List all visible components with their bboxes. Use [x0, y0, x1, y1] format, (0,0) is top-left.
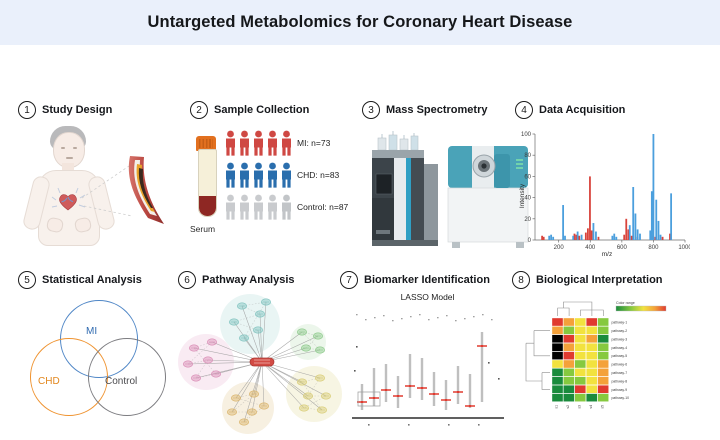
step-title-7: Biomarker Identification — [364, 274, 490, 286]
svg-text:80: 80 — [524, 153, 531, 159]
step-number-4: 4 — [515, 101, 533, 119]
step-number-6: 6 — [178, 271, 196, 289]
panel-data-acquisition: 4 Data Acquisition 020406080100200400600… — [515, 100, 690, 270]
person-icon — [266, 130, 279, 156]
svg-text:pathway-1: pathway-1 — [612, 321, 628, 325]
cohort-row-control: Control: n=87 — [224, 194, 348, 220]
workflow-grid: 1 Study Design — [0, 45, 720, 405]
panel-header: 2 Sample Collection — [190, 100, 365, 120]
venn-label-mi: MI — [86, 326, 97, 337]
svg-text:s3: s3 — [578, 405, 582, 409]
step-title-2: Sample Collection — [214, 104, 309, 116]
spectrum-axes: 0204060801002004006008001000 — [521, 132, 690, 251]
step-number-8: 8 — [512, 271, 530, 289]
step-title-3: Mass Spectrometry — [386, 104, 488, 116]
svg-text:pathway-9: pathway-9 — [612, 388, 628, 392]
step-number-5: 5 — [18, 271, 36, 289]
svg-text:20: 20 — [524, 217, 531, 223]
svg-text:0: 0 — [528, 238, 532, 244]
person-icon — [280, 162, 293, 188]
svg-text:s1: s1 — [555, 405, 559, 409]
svg-text:1000: 1000 — [678, 245, 690, 251]
panel-sample-collection: 2 Sample Collection Serum MI: n=73 — [190, 100, 365, 270]
eye-right-icon — [73, 147, 77, 149]
lasso-forest-plot — [348, 306, 508, 434]
legend-gradient-bar — [616, 306, 666, 311]
panel-header: 4 Data Acquisition — [515, 100, 690, 120]
lasso-panel: LASSO Model — [340, 290, 515, 438]
serum-label: Serum — [190, 224, 215, 234]
artery-plaque-icon — [114, 154, 176, 226]
venn-label-chd: CHD — [38, 376, 60, 387]
panel-header: 7 Biomarker Identification — [340, 270, 515, 290]
step-title-1: Study Design — [42, 104, 112, 116]
panel-header: 5 Statistical Analysis — [18, 270, 193, 290]
tube-body-shape — [198, 149, 217, 217]
sample-collection-illustration: Serum MI: n=73 CHD: n=83 — [190, 120, 365, 268]
panel-statistical-analysis: 5 Statistical Analysis MI CHD Control — [18, 270, 193, 440]
spectrum-bars — [541, 134, 672, 240]
clustered-heatmap: pathway-1pathway-2pathway-3pathway-4path… — [512, 290, 687, 438]
x-axis-label: m/z — [602, 251, 612, 258]
svg-text:100: 100 — [521, 132, 532, 138]
person-icon — [238, 162, 251, 188]
person-icon — [266, 194, 279, 220]
liquid-chromatograph-icon — [364, 130, 442, 250]
step-number-2: 2 — [190, 101, 208, 119]
svg-text:pathway-5: pathway-5 — [612, 354, 628, 358]
svg-text:pathway-4: pathway-4 — [612, 346, 628, 350]
panel-header: 3 Mass Spectrometry — [362, 100, 537, 120]
person-icon — [238, 130, 251, 156]
lasso-plot-title: LASSO Model — [340, 292, 515, 302]
svg-text:60: 60 — [524, 174, 531, 180]
person-icon — [280, 130, 293, 156]
lasso-marks — [354, 314, 500, 426]
step-title-4: Data Acquisition — [539, 104, 625, 116]
panel-pathway-analysis: 6 Pathway Analysis — [178, 270, 353, 440]
svg-text:pathway-2: pathway-2 — [612, 329, 628, 333]
person-icon — [280, 194, 293, 220]
person-icon — [252, 130, 265, 156]
serum-tube-icon — [196, 136, 216, 220]
cohort-label-chd: CHD: n=83 — [297, 170, 339, 180]
person-icon — [224, 162, 237, 188]
spectrum-plot: 0204060801002004006008001000 Intensity m… — [515, 122, 690, 268]
panel-header: 1 Study Design — [18, 100, 193, 120]
title-banner: Untargeted Metabolomics for Coronary Hea… — [0, 0, 720, 45]
person-icon — [252, 162, 265, 188]
svg-text:800: 800 — [648, 245, 659, 251]
step-number-1: 1 — [18, 101, 36, 119]
svg-text:400: 400 — [585, 245, 596, 251]
y-axis-label: Intensity — [519, 183, 526, 208]
legend-title: Color range — [616, 301, 635, 305]
pathway-network — [178, 290, 353, 438]
svg-text:s5: s5 — [600, 405, 604, 409]
panel-header: 8 Biological Interpretation — [512, 270, 687, 290]
page-title: Untargeted Metabolomics for Coronary Hea… — [148, 13, 573, 32]
step-title-8: Biological Interpretation — [536, 274, 663, 286]
svg-text:pathway-10: pathway-10 — [612, 396, 630, 400]
heatmap-legend: Color range — [616, 301, 666, 311]
mouth-icon — [66, 157, 73, 159]
heatmap-cells — [552, 318, 609, 402]
svg-text:pathway-7: pathway-7 — [612, 371, 628, 375]
blood-clot-shape — [199, 196, 216, 216]
venn-diagram: MI CHD Control — [18, 290, 193, 438]
cohort-label-mi: MI: n=73 — [297, 138, 330, 148]
network-graph — [178, 290, 353, 438]
svg-text:pathway-6: pathway-6 — [612, 363, 628, 367]
hub-node — [250, 358, 274, 366]
person-icon — [252, 194, 265, 220]
panel-mass-spectrometry: 3 Mass Spectrometry — [362, 100, 537, 270]
svg-text:s4: s4 — [589, 405, 593, 409]
person-icon — [266, 162, 279, 188]
venn-label-control: Control — [105, 376, 137, 387]
eye-left-icon — [61, 147, 65, 149]
svg-text:200: 200 — [554, 245, 565, 251]
svg-text:s2: s2 — [566, 405, 570, 409]
step-number-3: 3 — [362, 101, 380, 119]
study-design-illustration — [18, 120, 193, 268]
svg-text:pathway-3: pathway-3 — [612, 337, 628, 341]
step-title-5: Statistical Analysis — [42, 274, 142, 286]
heart-icon — [58, 192, 78, 211]
person-icon — [224, 194, 237, 220]
svg-text:pathway-8: pathway-8 — [612, 379, 628, 383]
mass-spectrum-chart: 0204060801002004006008001000 Intensity m… — [515, 120, 690, 268]
svg-text:600: 600 — [617, 245, 628, 251]
step-number-7: 7 — [340, 271, 358, 289]
step-title-6: Pathway Analysis — [202, 274, 295, 286]
instrument-illustration — [362, 120, 537, 268]
panel-study-design: 1 Study Design — [18, 100, 193, 270]
panel-biomarker-identification: 7 Biomarker Identification LASSO Model — [340, 270, 515, 440]
cohort-row-chd: CHD: n=83 — [224, 162, 339, 188]
cohort-label-control: Control: n=87 — [297, 202, 348, 212]
cohort-row-mi: MI: n=73 — [224, 130, 330, 156]
person-icon — [224, 130, 237, 156]
panel-biological-interpretation: 8 Biological Interpretation pathway-1pat… — [512, 270, 687, 440]
panel-header: 6 Pathway Analysis — [178, 270, 353, 290]
heatmap-panel: pathway-1pathway-2pathway-3pathway-4path… — [512, 290, 687, 438]
person-icon — [238, 194, 251, 220]
